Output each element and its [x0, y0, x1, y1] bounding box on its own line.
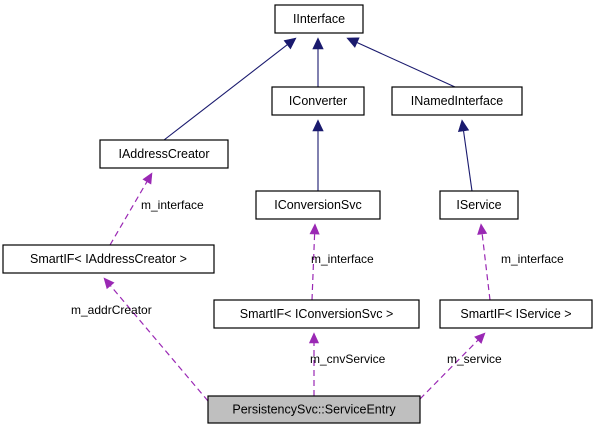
class-node-smartif_cnv[interactable]: SmartIF< IConversionSvc >	[214, 300, 419, 328]
class-node-label-iconversionsvc: IConversionSvc	[274, 198, 362, 212]
class-node-iinterface[interactable]: IInterface	[275, 5, 363, 33]
association-edge-smartif_svc-to-iservice	[482, 234, 490, 300]
edge-label-m_interface-a1: m_interface	[141, 198, 204, 212]
class-node-label-inamedinterface: INamedInterface	[411, 94, 503, 108]
class-node-serviceentry[interactable]: PersistencySvc::ServiceEntry	[208, 396, 420, 423]
edge-label-m_interface-a2: m_interface	[311, 252, 374, 266]
class-node-label-iconverter: IConverter	[289, 94, 347, 108]
inheritance-edge-inamedinterface-to-iinterface	[357, 43, 455, 87]
class-node-iconverter[interactable]: IConverter	[272, 87, 364, 115]
class-node-smartif_addr[interactable]: SmartIF< IAddressCreator >	[3, 245, 214, 273]
edge-label-m_interface-a3: m_interface	[501, 252, 564, 266]
class-node-label-iservice: IService	[456, 198, 501, 212]
edge-label-m_cnvService-a5: m_cnvService	[310, 352, 386, 366]
association-edge-smartif_cnv-to-iconversionsvc	[312, 234, 315, 300]
association-edge-smartif_addr-to-iaddresscreator	[110, 182, 147, 245]
class-node-inamedinterface[interactable]: INamedInterface	[392, 87, 522, 115]
association-edge-serviceentry-to-smartif_svc	[420, 340, 478, 399]
edge-label-m_service-a6: m_service	[447, 352, 502, 366]
class-node-label-iinterface: IInterface	[293, 12, 345, 26]
inheritance-edge-iservice-to-inamedinterface	[464, 131, 472, 191]
class-node-group: IInterfaceIConverterINamedInterfaceIAddr…	[3, 5, 592, 423]
diagram-canvas: IInterfaceIConverterINamedInterfaceIAddr…	[0, 0, 603, 427]
class-node-label-smartif_addr: SmartIF< IAddressCreator >	[30, 252, 187, 266]
class-node-iconversionsvc[interactable]: IConversionSvc	[256, 191, 380, 219]
class-node-smartif_svc[interactable]: SmartIF< IService >	[440, 300, 592, 328]
class-node-label-iaddresscreator: IAddressCreator	[118, 147, 209, 161]
uml-collaboration-diagram: IInterfaceIConverterINamedInterfaceIAddr…	[0, 0, 603, 427]
class-node-iaddresscreator[interactable]: IAddressCreator	[100, 140, 228, 168]
class-node-iservice[interactable]: IService	[440, 191, 518, 219]
edge-label-m_addrCreator-a4: m_addrCreator	[71, 303, 152, 317]
class-node-label-smartif_cnv: SmartIF< IConversionSvc >	[240, 307, 394, 321]
class-node-label-smartif_svc: SmartIF< IService >	[460, 307, 571, 321]
class-node-label-serviceentry: PersistencySvc::ServiceEntry	[232, 402, 396, 416]
inheritance-edge-iaddresscreator-to-iinterface	[164, 45, 287, 140]
